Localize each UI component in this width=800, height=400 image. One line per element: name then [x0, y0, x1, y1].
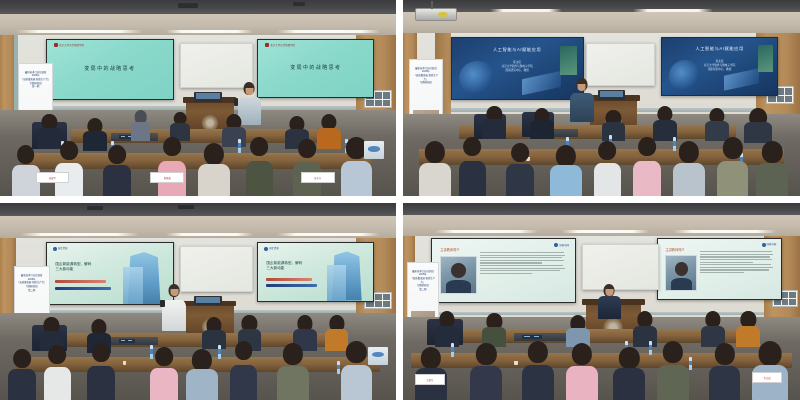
slide-surface: 北京大学光华管理学院 变局中的战略思考 — [258, 40, 373, 97]
audience-member — [12, 145, 40, 196]
slide-accent-bar — [266, 284, 317, 287]
audience-member — [55, 141, 83, 196]
audience-member — [222, 114, 246, 147]
company-logo-icon — [264, 247, 268, 251]
slide-title: 国企新能源转型，解码 三大新动能 — [266, 261, 321, 272]
audience-member — [594, 141, 622, 196]
ceiling-light-strip — [166, 30, 253, 33]
audience-member — [756, 141, 788, 196]
audience-member — [277, 343, 309, 400]
projection-screen-right[interactable]: 北京大学光华管理学院 变局中的战略思考 — [257, 39, 374, 98]
audience-member — [419, 141, 451, 196]
ceiling-projector — [415, 8, 457, 21]
audience-member — [230, 341, 258, 400]
slide-accent-bar — [266, 278, 312, 281]
audience-member — [8, 349, 36, 400]
name-card: 谢敬峰 — [150, 172, 184, 183]
photo-collage: 北京大学光华管理学院 变局中的战略思考 北京大学光华管理学院 变局中的战略思考 — [0, 0, 800, 400]
audience-member — [752, 341, 788, 400]
slide-surface: 人工智能与AI赋能应用 陈主任 北京大学软件与微电子学院 国家研究中心、教授 — [662, 38, 777, 95]
podium-emblem-icon — [202, 115, 218, 131]
ceiling-soffit — [403, 12, 800, 34]
slide-accent-bar — [55, 280, 106, 283]
name-card: 王建军 — [415, 374, 445, 385]
speaker-body — [570, 93, 594, 121]
slide-subtitle: 陈主任 北京大学软件与微电子学院 国家研究中心、教授 — [662, 60, 777, 72]
ceiling-vent-icon — [178, 3, 198, 8]
audience-member — [202, 317, 226, 349]
slide-logo-text: 北京大学光华管理学院 — [270, 44, 295, 47]
microphone-icon — [160, 300, 165, 308]
slide-surface: 主讲教师简介 国家电网 — [432, 239, 575, 302]
projection-screen-right[interactable]: 国企资源 国企新能源转型，解码 三大新动能 — [257, 242, 374, 301]
recycle-bin — [368, 347, 388, 365]
slide-title: 人工智能与AI赋能应用 — [662, 46, 777, 52]
audience-member — [530, 108, 554, 139]
speaker-portrait — [440, 256, 476, 295]
audience-member — [602, 110, 626, 141]
audience-member — [103, 145, 131, 196]
whiteboard-surface — [587, 44, 654, 85]
water-bottle — [218, 345, 221, 359]
audience-member — [293, 139, 321, 196]
audience-member — [653, 106, 677, 141]
classroom-scene: 主讲教师简介 国家电网 主讲教师简介 国家 — [403, 203, 800, 400]
audience-member — [459, 137, 487, 196]
audience-member — [613, 347, 645, 400]
audience-member — [673, 141, 705, 196]
projection-screen-left[interactable]: 主讲教师简介 国家电网 — [431, 238, 576, 303]
rollup-banner-text: 最新技术行业培训班 2025年 「高质量发展·新质生产力」 专题研修班 第二期 — [410, 270, 436, 292]
speaker-person — [598, 284, 622, 319]
slide-title: 人工智能与AI赋能应用 — [452, 47, 583, 53]
slide-surface: 北京大学光华管理学院 变局中的战略思考 — [47, 40, 174, 99]
building-illustration-secondary — [327, 265, 345, 300]
slide-surface: 人工智能与AI赋能应用 陈主任 北京大学软件与微电子学院 国家研究中心、教授 — [452, 38, 583, 99]
recycle-bin — [364, 141, 384, 159]
water-bottle — [689, 357, 692, 371]
chip-graphic-icon — [522, 71, 561, 95]
audience-member — [246, 137, 274, 196]
rollup-banner-text: 最新技术行业培训班 2025年 「高质量发展·新质生产力」 专题研修班 — [412, 67, 440, 85]
whiteboard-surface — [583, 245, 658, 288]
ceiling-light-strip — [435, 230, 538, 233]
audience-member — [633, 137, 661, 196]
slide-body-text — [480, 252, 566, 294]
whiteboard — [180, 246, 253, 291]
classroom-scene: 人工智能与AI赋能应用 陈主任 北京大学软件与微电子学院 国家研究中心、教授 人… — [403, 0, 800, 196]
speaker-body — [598, 296, 622, 319]
audience-member — [482, 313, 506, 346]
whiteboard — [586, 43, 655, 86]
speaker-head — [244, 82, 255, 95]
ceiling-band — [403, 0, 800, 12]
rollup-banner-text: 最新技术行业培训班 2025年 「高质量发展·新质生产力」 专题研修班 第二期 — [17, 274, 47, 292]
name-card: 张建华 — [36, 172, 70, 183]
rollup-banner-text: 最新技术行业培训班 2025年 「高质量发展·新质生产力」 专题研修班 第一期 — [21, 71, 51, 89]
ceiling-vent-icon — [178, 205, 194, 209]
ceiling-band — [0, 0, 396, 14]
ceiling-vent-icon — [87, 206, 103, 210]
speaker-person — [570, 78, 594, 121]
projection-screen-right[interactable]: 主讲教师简介 国家电网 — [657, 238, 782, 299]
speaker-head — [604, 284, 615, 297]
company-logo-icon — [53, 247, 57, 251]
university-logo-icon — [54, 43, 58, 47]
audience-member — [506, 143, 534, 196]
speaker-head — [576, 78, 587, 91]
ceiling-light-strip — [166, 233, 253, 236]
audience-member — [550, 145, 582, 196]
speaker-body — [162, 300, 186, 331]
ceiling-light-strip — [277, 233, 380, 236]
slide-corner-logo-text: 国家电网 — [559, 244, 569, 247]
audience-member — [87, 343, 115, 400]
projection-screen-left[interactable]: 北京大学光华管理学院 变局中的战略思考 — [46, 39, 175, 100]
slide-subtitle: 陈主任 北京大学软件与微电子学院 国家研究中心、教授 — [452, 61, 583, 73]
slide-surface: 主讲教师简介 国家电网 — [658, 239, 781, 298]
whiteboard-surface — [181, 44, 252, 87]
speaker-person — [162, 284, 186, 331]
laptop — [194, 92, 222, 102]
ceiling-light-strip — [673, 230, 776, 233]
paper-cup — [123, 361, 127, 365]
ceiling-band — [403, 203, 800, 215]
slide-title: 主讲教师简介 — [665, 247, 684, 252]
name-card: 李文斌 — [752, 372, 782, 383]
audience-member — [131, 110, 151, 141]
audience-member — [186, 349, 218, 400]
audience-member — [482, 106, 506, 139]
collage-panel-bottom-left[interactable]: 国企资源 国企新能源转型，解码 三大新动能 国企资源 国企新能源转型，解码 三大… — [0, 203, 396, 400]
collage-panel-top-right[interactable]: 人工智能与AI赋能应用 陈主任 北京大学软件与微电子学院 国家研究中心、教授 人… — [403, 0, 800, 196]
ceiling-light-strip — [633, 9, 712, 12]
ceiling-light-strip — [562, 230, 649, 233]
slide-logo-text: 国企资源 — [269, 247, 279, 250]
water-bottle — [451, 343, 454, 357]
company-logo-icon — [762, 243, 766, 247]
slide-surface: 国企资源 国企新能源转型，解码 三大新动能 — [47, 243, 174, 304]
laptop — [194, 296, 222, 306]
building-illustration-secondary — [123, 267, 143, 305]
desk-microphone-unit — [522, 335, 542, 339]
audience-member — [701, 311, 725, 346]
audience-member — [709, 343, 741, 400]
audience-member — [158, 137, 186, 196]
projection-screen-left[interactable]: 国企资源 国企新能源转型，解码 三大新动能 — [46, 242, 175, 305]
desk-microphone-unit — [119, 339, 135, 343]
audience-member — [150, 347, 178, 400]
audience-desk — [71, 129, 317, 143]
name-card: 张志东 — [301, 172, 335, 183]
audience-member — [522, 341, 554, 400]
laptop — [598, 90, 626, 100]
audience-member — [435, 311, 459, 346]
audience-member — [705, 108, 729, 141]
whiteboard-surface — [181, 247, 252, 290]
audience-member — [633, 311, 657, 346]
ceiling-light-strip — [490, 9, 561, 12]
ceiling-light-strip — [20, 233, 139, 236]
slide-title: 变局中的战略思考 — [258, 64, 373, 71]
slide-body-text — [700, 251, 774, 290]
water-bottle — [337, 361, 340, 375]
audience-member — [44, 345, 72, 400]
classroom-scene: 北京大学光华管理学院 变局中的战略思考 北京大学光华管理学院 变局中的战略思考 — [0, 0, 396, 196]
ceiling-light-strip — [16, 30, 143, 33]
collage-panel-bottom-right[interactable]: 主讲教师简介 国家电网 主讲教师简介 国家 — [403, 203, 800, 400]
slide-title: 变局中的战略思考 — [47, 65, 174, 72]
ceiling-band — [0, 203, 396, 216]
slide-title: 国企新能源转型，解码 三大新动能 — [55, 262, 116, 273]
slide-logo-text: 国企资源 — [58, 247, 68, 250]
company-logo-icon — [554, 243, 558, 247]
slide-corner-logo-text: 国家电网 — [767, 243, 777, 246]
microphone-icon — [234, 98, 239, 106]
slide-logo-text: 北京大学光华管理学院 — [59, 44, 84, 47]
speaker-head — [169, 284, 180, 297]
audience-member — [198, 143, 230, 196]
paper-cup — [514, 361, 518, 365]
audience-member — [744, 108, 772, 143]
projection-screen-left[interactable]: 人工智能与AI赋能应用 陈主任 北京大学软件与微电子学院 国家研究中心、教授 — [451, 37, 584, 100]
projection-screen-right[interactable]: 人工智能与AI赋能应用 陈主任 北京大学软件与微电子学院 国家研究中心、教授 — [661, 37, 778, 96]
audience-member — [657, 341, 689, 400]
chip-graphic-icon — [724, 69, 759, 91]
classroom-scene: 国企资源 国企新能源转型，解码 三大新动能 国企资源 国企新能源转型，解码 三大… — [0, 203, 396, 400]
collage-panel-top-left[interactable]: 北京大学光华管理学院 变局中的战略思考 北京大学光华管理学院 变局中的战略思考 — [0, 0, 396, 196]
ceiling-vent-icon — [293, 2, 305, 6]
water-bottle — [238, 139, 241, 153]
slide-surface: 国企资源 国企新能源转型，解码 三大新动能 — [258, 243, 373, 300]
audience-member — [717, 137, 749, 196]
desk-top — [71, 129, 317, 134]
university-logo-icon — [265, 43, 269, 47]
speaker-portrait — [665, 255, 697, 291]
audience-member — [566, 343, 598, 400]
water-bottle — [649, 341, 652, 355]
projector-mount — [431, 1, 433, 9]
ceiling-soffit — [403, 215, 800, 237]
audience-member — [470, 343, 502, 400]
slide-accent-bar — [55, 287, 111, 290]
slide-title: 主讲教师简介 — [440, 247, 459, 252]
ceiling-light-strip — [277, 30, 380, 33]
